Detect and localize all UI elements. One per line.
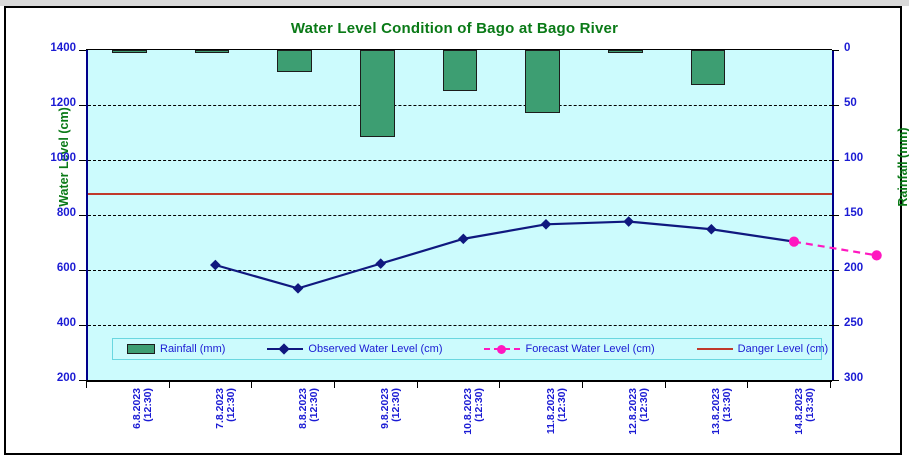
y-axis-right-tick-label: 300 [844, 372, 884, 384]
y-axis-right-tick-mark [832, 160, 839, 161]
x-axis-tick-label-date: 14.8.2023 [794, 388, 805, 460]
y-axis-left-tick-mark [79, 50, 86, 51]
x-axis-tick-label-time: (12:30) [474, 388, 485, 460]
y-axis-right-tick-label: 250 [844, 317, 884, 329]
forecast-water-level-line [794, 242, 877, 256]
observed-line-icon [267, 343, 303, 355]
observed-water-level-line [215, 222, 794, 289]
y-axis-left-tick-label: 1000 [30, 152, 76, 164]
x-axis-tick-label-time: (12:30) [143, 388, 154, 460]
x-axis-tick-label-time: (13:30) [805, 388, 816, 460]
observed-data-point [707, 225, 716, 234]
legend-item-label: Danger Level (cm) [738, 343, 828, 355]
plot-area [86, 50, 834, 380]
rainfall-bar [608, 50, 643, 53]
y-axis-right-tick-mark [832, 105, 839, 106]
y-axis-right-tick-label: 100 [844, 152, 884, 164]
x-axis-tick-label: 11.8.2023(12:30) [546, 388, 568, 460]
x-axis-tick-label: 13.8.2023(13:30) [711, 388, 733, 460]
x-axis-tick-label: 14.8.2023(13:30) [794, 388, 816, 460]
legend-item[interactable]: Observed Water Level (cm) [267, 343, 442, 355]
y-axis-right-tick-label: 0 [844, 42, 884, 54]
forecast-data-point [789, 237, 798, 246]
x-axis-tick-label-time: (12:30) [226, 388, 237, 460]
y-axis-right-tick-label: 150 [844, 207, 884, 219]
chart-legend: Rainfall (mm)Observed Water Level (cm)Fo… [112, 338, 822, 360]
rainfall-bar [443, 50, 478, 91]
rainfall-bar [195, 50, 230, 53]
y-axis-left-tick-mark [79, 105, 86, 106]
rainfall-bar [277, 50, 312, 72]
y-axis-left-tick-label: 1400 [30, 42, 76, 54]
x-axis-tick-mark [582, 382, 583, 388]
legend-item-label: Observed Water Level (cm) [308, 343, 442, 355]
legend-item-label: Forecast Water Level (cm) [525, 343, 654, 355]
observed-data-point [541, 220, 550, 229]
x-axis-tick-label-date: 11.8.2023 [546, 388, 557, 460]
legend-item-label: Rainfall (mm) [160, 343, 225, 355]
x-axis-tick-label-time: (12:30) [309, 388, 320, 460]
y-axis-right-tick-label: 50 [844, 97, 884, 109]
y-axis-left-tick-label: 1200 [30, 97, 76, 109]
x-axis-tick-label: 8.8.2023(12:30) [298, 388, 320, 460]
observed-data-point [211, 260, 220, 269]
x-axis-tick-label-time: (12:30) [639, 388, 650, 460]
y-axis-left-tick-mark [79, 270, 86, 271]
y-axis-right-tick-mark [832, 325, 839, 326]
x-axis-tick-mark [665, 382, 666, 388]
y-axis-left-tick-label: 400 [30, 317, 76, 329]
legend-item[interactable]: Forecast Water Level (cm) [484, 343, 654, 355]
observed-data-point [293, 284, 302, 293]
chart-title: Water Level Condition of Bago at Bago Ri… [0, 20, 909, 37]
chart-window: Water Level Condition of Bago at Bago Ri… [0, 0, 909, 460]
x-axis-tick-mark [334, 382, 335, 388]
observed-data-point [376, 259, 385, 268]
forecast-line-icon [484, 343, 520, 355]
y-axis-left-tick-label: 600 [30, 262, 76, 274]
y-axis-right-tick-mark [832, 270, 839, 271]
x-axis-tick-mark [251, 382, 252, 388]
observed-data-point [459, 234, 468, 243]
observed-data-point [624, 217, 633, 226]
x-axis-tick-label-time: (12:30) [391, 388, 402, 460]
y-axis-left-tick-mark [79, 215, 86, 216]
x-axis-tick-label-date: 8.8.2023 [298, 388, 309, 460]
y-axis-right-tick-mark [832, 50, 839, 51]
y-axis-left-tick-label: 200 [30, 372, 76, 384]
x-axis-tick-label: 10.8.2023(12:30) [463, 388, 485, 460]
rainfall-swatch-icon [127, 344, 155, 354]
x-axis-tick-mark [417, 382, 418, 388]
x-axis-tick-label-time: (13:30) [722, 388, 733, 460]
x-axis-tick-mark [86, 382, 87, 388]
water-level-lines [174, 100, 909, 430]
x-axis-tick-mark [169, 382, 170, 388]
danger-line-icon [697, 343, 733, 355]
legend-item[interactable]: Rainfall (mm) [127, 343, 225, 355]
legend-item[interactable]: Danger Level (cm) [697, 343, 828, 355]
rainfall-bar [112, 50, 147, 53]
y-axis-right-tick-mark [832, 215, 839, 216]
y-axis-left-tick-mark [79, 325, 86, 326]
x-axis-tick-mark [747, 382, 748, 388]
x-axis-tick-label: 12.8.2023(12:30) [628, 388, 650, 460]
rainfall-bar [691, 50, 726, 85]
y-axis-right-tick-label: 200 [844, 262, 884, 274]
x-axis-tick-label-time: (12:30) [557, 388, 568, 460]
x-axis-tick-label: 9.8.2023(12:30) [380, 388, 402, 460]
x-axis-tick-mark [830, 382, 831, 388]
y-axis-right-tick-mark [832, 380, 839, 381]
x-axis-tick-label: 7.8.2023(12:30) [215, 388, 237, 460]
x-axis-tick-mark [499, 382, 500, 388]
y-axis-left-tick-mark [79, 160, 86, 161]
forecast-data-point [872, 251, 881, 260]
y-axis-left-tick-mark [79, 380, 86, 381]
x-axis-tick-label: 6.8.2023(12:30) [132, 388, 154, 460]
y-axis-left-tick-label: 800 [30, 207, 76, 219]
